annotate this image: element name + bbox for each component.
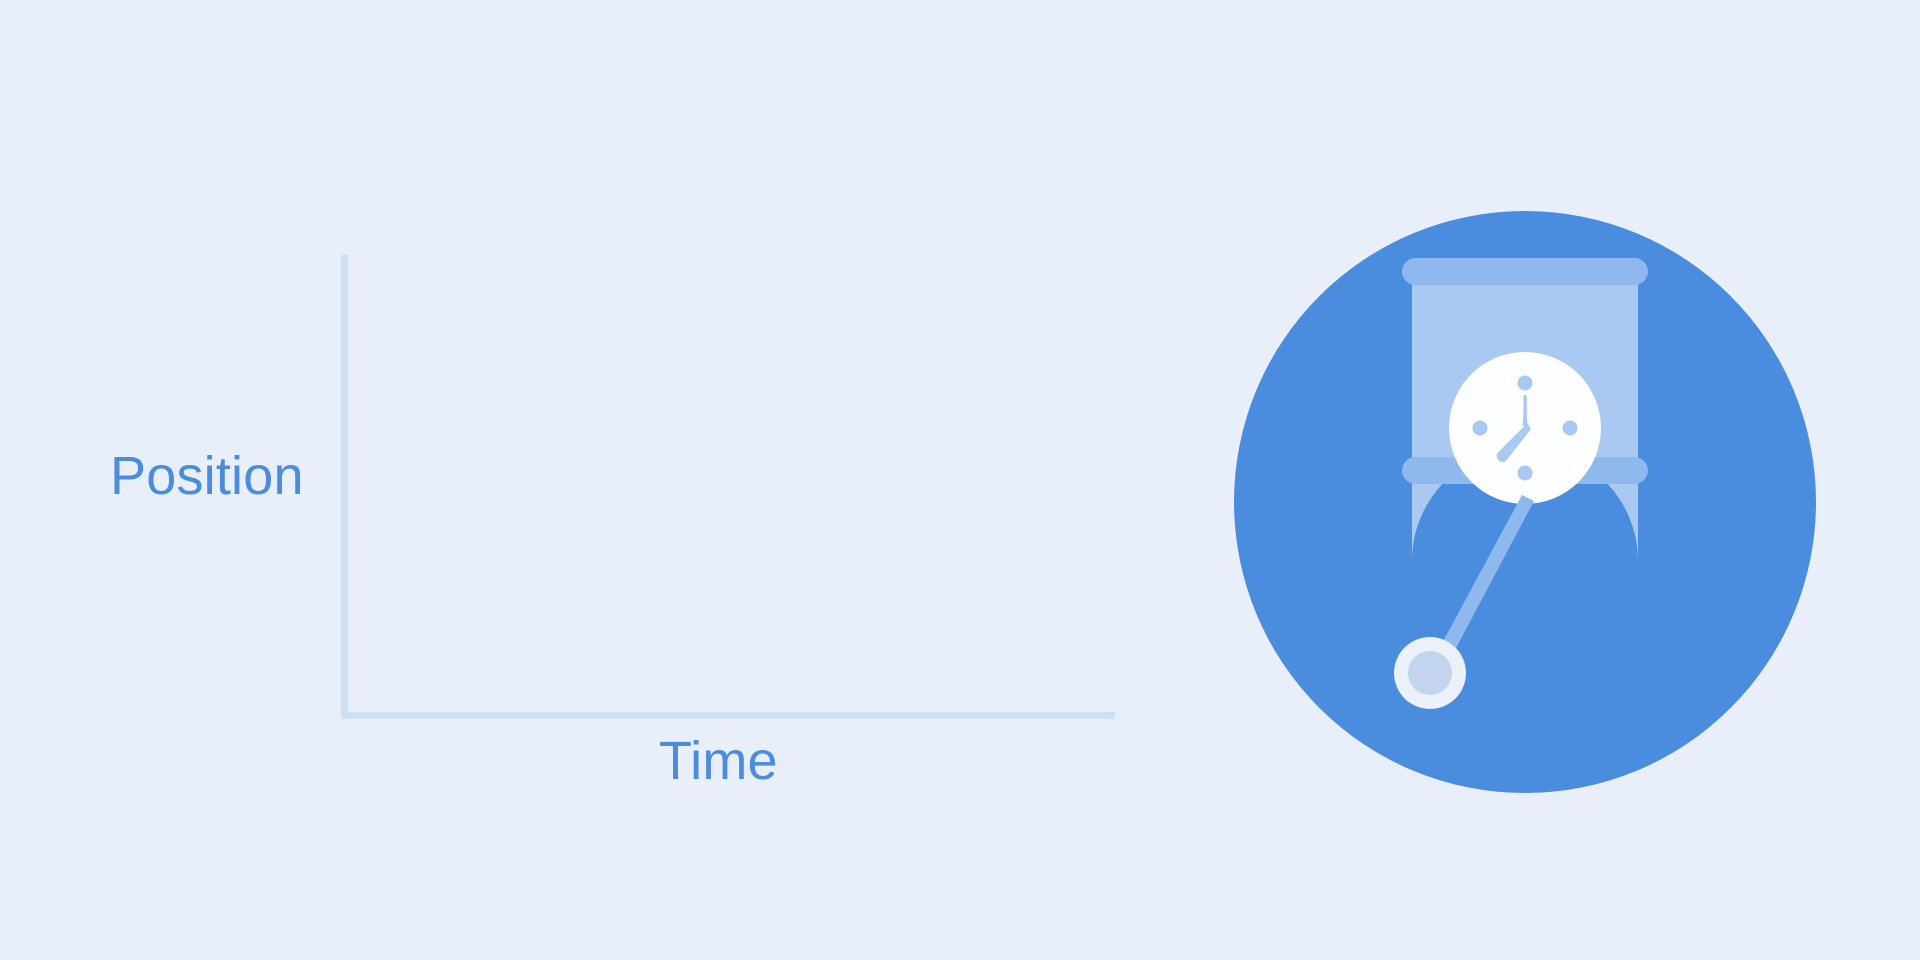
clock-marker-3-icon [1563, 421, 1578, 436]
position-time-graph: Position Time [0, 0, 1200, 960]
clock-marker-9-icon [1473, 421, 1488, 436]
pendulum-clock-illustration [1234, 211, 1816, 793]
screenshot-canvas: Position Time [0, 0, 1920, 960]
plot-area [348, 255, 1115, 712]
x-axis-line [341, 712, 1115, 719]
pendulum-bob-core [1408, 651, 1452, 695]
clock-minute-hand-stem-icon [1523, 395, 1526, 427]
y-axis-line [341, 255, 348, 719]
x-axis-label: Time [659, 734, 778, 788]
clock-top-cornice [1402, 258, 1648, 285]
clock-marker-6-icon [1518, 466, 1533, 481]
y-axis-label: Position [110, 449, 304, 503]
clock-marker-12-icon [1518, 376, 1533, 391]
